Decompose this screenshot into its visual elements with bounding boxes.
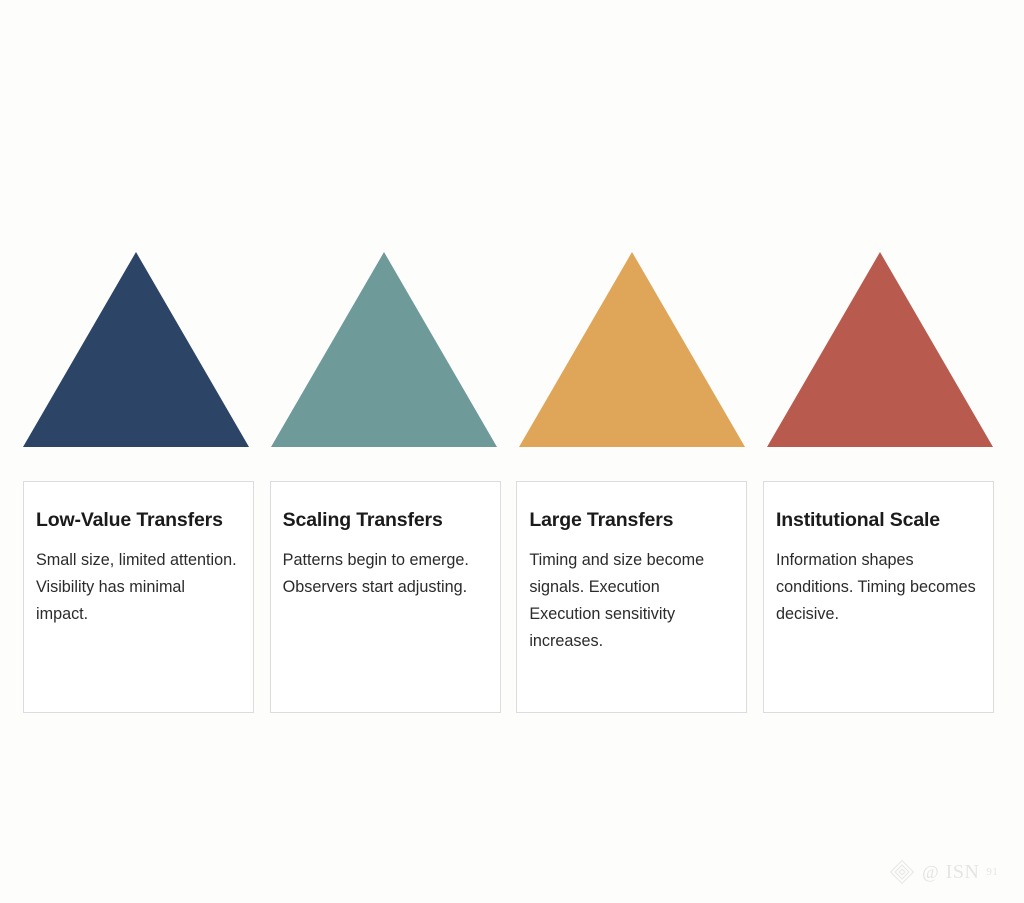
- stage-card-body: Patterns begin to emerge. Observers star…: [283, 547, 486, 601]
- triangle-icon-large-transfers: [519, 252, 745, 447]
- triangle-cell-1: [23, 251, 250, 447]
- stage-card-title: Scaling Transfers: [283, 509, 486, 531]
- stage-card-body: Information shapes conditions. Timing be…: [776, 547, 979, 628]
- watermark: @ ISN 91: [889, 859, 998, 885]
- triangle-cell-3: [519, 251, 746, 447]
- watermark-superscript: 91: [986, 866, 998, 878]
- infographic-canvas: Low-Value Transfers Small size, limited …: [0, 0, 1024, 903]
- watermark-handle: ISN: [946, 862, 980, 882]
- stage-card-body: Timing and size become signals. Executio…: [529, 547, 732, 655]
- stage-card-scaling-transfers: Scaling Transfers Patterns begin to emer…: [270, 481, 501, 713]
- stage-card-title: Large Transfers: [529, 509, 732, 531]
- triangle-cell-2: [271, 251, 498, 447]
- triangle-row: [23, 251, 994, 447]
- stage-card-institutional-scale: Institutional Scale Information shapes c…: [763, 481, 994, 713]
- stage-card-title: Institutional Scale: [776, 509, 979, 531]
- stage-card-title: Low-Value Transfers: [36, 509, 239, 531]
- triangle-icon-scaling-transfers: [271, 252, 497, 447]
- stage-card-large-transfers: Large Transfers Timing and size become s…: [516, 481, 747, 713]
- triangle-icon-institutional-scale: [767, 252, 993, 447]
- card-row: Low-Value Transfers Small size, limited …: [23, 481, 994, 713]
- diamond-logo-icon: [889, 859, 915, 885]
- watermark-at-symbol: @: [922, 863, 939, 881]
- stage-card-low-value-transfers: Low-Value Transfers Small size, limited …: [23, 481, 254, 713]
- triangle-icon-low-value-transfers: [23, 252, 249, 447]
- stage-card-body: Small size, limited attention. Visibilit…: [36, 547, 239, 628]
- triangle-cell-4: [767, 251, 994, 447]
